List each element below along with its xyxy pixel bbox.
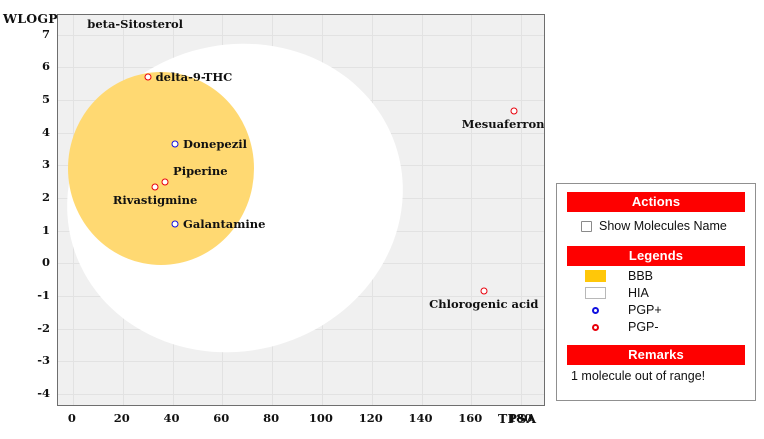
data-point-marker[interactable]	[172, 141, 179, 148]
y-axis-ticks: 76543210-1-2-3-4	[0, 0, 50, 439]
x-tick-label: 100	[309, 411, 333, 425]
legend-item-hia: HIA	[585, 286, 745, 300]
data-point-marker[interactable]	[152, 183, 159, 190]
side-panel: Actions Show Molecules Name Legends BBB …	[556, 183, 756, 401]
x-tick-label: 40	[164, 411, 180, 425]
data-point-marker[interactable]	[480, 288, 487, 295]
plot-frame: delta-9-THCDonepezilPiperineRivastigmine…	[57, 14, 545, 406]
hia-swatch-icon	[585, 287, 606, 299]
molecule-label: delta-9-THC	[156, 70, 233, 84]
legend-label-hia: HIA	[628, 286, 649, 300]
show-molecules-name-checkbox[interactable]	[581, 221, 592, 232]
y-tick-label: 2	[42, 190, 50, 204]
gridline-vertical	[422, 15, 423, 405]
gridline-horizontal	[58, 361, 544, 362]
pgp-plus-marker-icon	[585, 304, 606, 316]
remarks-header: Remarks	[567, 345, 745, 365]
molecule-label: Donepezil	[183, 137, 247, 151]
legend-item-pgp-minus: PGP-	[585, 320, 745, 334]
y-tick-label: 3	[42, 157, 50, 171]
x-tick-label: 120	[359, 411, 383, 425]
legend-item-pgp-plus: PGP+	[585, 303, 745, 317]
bbb-swatch-icon	[585, 270, 606, 282]
molecule-label: Galantamine	[183, 217, 265, 231]
y-tick-label: -1	[37, 288, 50, 302]
x-tick-label: 180	[508, 411, 532, 425]
molecule-label: Mesuaferrone B	[462, 117, 545, 131]
legends-header: Legends	[567, 246, 745, 266]
gridline-vertical	[471, 15, 472, 405]
x-tick-label: 160	[458, 411, 482, 425]
y-tick-label: 4	[42, 125, 50, 139]
molecule-label: Chlorogenic acid	[429, 297, 538, 311]
y-tick-label: 0	[42, 255, 50, 269]
y-tick-label: -4	[37, 386, 50, 400]
data-point-marker[interactable]	[162, 178, 169, 185]
actions-header: Actions	[567, 192, 745, 212]
boiled-egg-plot: WLOGP TPSA 76543210-1-2-3-4 020406080100…	[0, 0, 548, 439]
y-tick-label: 5	[42, 92, 50, 106]
x-tick-label: 60	[213, 411, 229, 425]
y-tick-label: 7	[42, 27, 50, 41]
y-tick-label: 6	[42, 59, 50, 73]
y-tick-label: 1	[42, 223, 50, 237]
x-tick-label: 80	[263, 411, 279, 425]
pgp-minus-marker-icon	[585, 321, 606, 333]
gridline-horizontal	[58, 35, 544, 36]
show-molecules-name-label: Show Molecules Name	[599, 219, 727, 233]
y-tick-label: -3	[37, 353, 50, 367]
molecule-label: Piperine	[173, 164, 227, 178]
x-tick-label: 0	[68, 411, 76, 425]
legend-label-pgp-plus: PGP+	[628, 303, 662, 317]
legend-label-bbb: BBB	[628, 269, 653, 283]
legend-label-pgp-minus: PGP-	[628, 320, 659, 334]
gridline-horizontal	[58, 394, 544, 395]
data-point-marker[interactable]	[144, 74, 151, 81]
data-point-marker[interactable]	[510, 108, 517, 115]
show-molecules-name-row[interactable]: Show Molecules Name	[581, 219, 745, 233]
molecule-label: Rivastigmine	[113, 193, 197, 207]
gridline-vertical	[521, 15, 522, 405]
x-tick-label: 20	[114, 411, 130, 425]
out-of-range-molecule-label: beta-Sitosterol	[87, 17, 183, 31]
x-tick-label: 140	[408, 411, 432, 425]
remarks-text: 1 molecule out of range!	[571, 369, 745, 383]
legend-item-bbb: BBB	[585, 269, 745, 283]
y-tick-label: -2	[37, 321, 50, 335]
data-point-marker[interactable]	[172, 221, 179, 228]
